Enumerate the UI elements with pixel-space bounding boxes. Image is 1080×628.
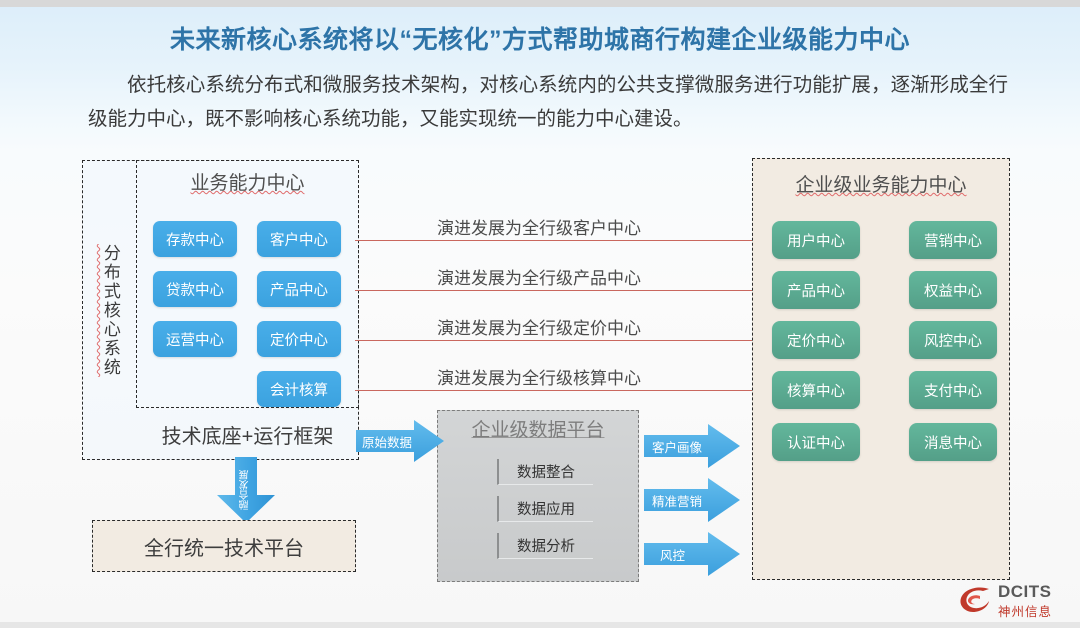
evolution-label-product: 演进发展为全行级产品中心 [437, 264, 641, 289]
output-arrow-customer-profile-label: 客户画像 [652, 437, 702, 456]
integration-down-arrow-label: 融合发展 [241, 470, 251, 510]
page-title: 未来新核心系统将以“无核化”方式帮助城商行构建企业级能力中心 [0, 20, 1080, 56]
ecc-risk-center[interactable]: 风控中心 [909, 321, 997, 359]
enterprise-data-platform-title: 企业级数据平台 [437, 415, 639, 442]
evolution-label-customer: 演进发展为全行级客户中心 [437, 214, 641, 239]
capability-accounting-center[interactable]: 会计核算 [257, 371, 341, 407]
output-arrow-risk-control-label: 风控 [660, 545, 685, 564]
capability-operation-center[interactable]: 运营中心 [153, 321, 237, 357]
capability-product-center[interactable]: 产品中心 [257, 271, 341, 307]
capability-loan-center[interactable]: 贷款中心 [153, 271, 237, 307]
evolution-arrow-line-accounting [355, 390, 757, 391]
evolution-label-accounting: 演进发展为全行级核算中心 [437, 364, 641, 389]
ecc-user-center[interactable]: 用户中心 [772, 221, 860, 259]
data-platform-item-analysis[interactable]: 数据分析 [497, 533, 593, 559]
ecc-accounting-center[interactable]: 核算中心 [772, 371, 860, 409]
integration-down-arrow: 融合发展 [215, 457, 277, 523]
slide-canvas: 未来新核心系统将以“无核化”方式帮助城商行构建企业级能力中心 依托核心系统分布式… [0, 0, 1080, 628]
ecc-pricing-center[interactable]: 定价中心 [772, 321, 860, 359]
raw-data-arrow-label: 原始数据 [362, 432, 412, 451]
company-logo: DCITS 神州信息 [958, 580, 1070, 622]
ecc-message-center[interactable]: 消息中心 [909, 423, 997, 461]
tech-base-label: 技术底座+运行框架 [136, 408, 359, 460]
data-platform-item-application[interactable]: 数据应用 [497, 496, 593, 522]
unified-tech-platform-box: 全行统一技术平台 [92, 520, 356, 572]
capability-customer-center[interactable]: 客户中心 [257, 221, 341, 257]
ecc-marketing-center[interactable]: 营销中心 [909, 221, 997, 259]
ecc-product-center[interactable]: 产品中心 [772, 271, 860, 309]
ecc-payment-center[interactable]: 支付中心 [909, 371, 997, 409]
output-arrow-precision-marketing-label: 精准营销 [652, 491, 702, 510]
evolution-label-pricing: 演进发展为全行级定价中心 [437, 314, 641, 339]
distributed-core-system-label: 分布式核心系统 [83, 160, 137, 460]
ecc-rights-center[interactable]: 权益中心 [909, 271, 997, 309]
output-arrow-precision-marketing: 精准营销 [644, 477, 740, 523]
raw-data-arrow: 原始数据 [356, 419, 444, 463]
logo-brand-en: DCITS [998, 582, 1052, 602]
top-chrome-strip [0, 0, 1080, 7]
logo-brand-cn: 神州信息 [998, 601, 1052, 620]
data-platform-item-integration[interactable]: 数据整合 [497, 459, 593, 485]
business-capability-center-title: 业务能力中心 [136, 168, 359, 195]
bottom-chrome-strip [0, 622, 1080, 628]
page-subtitle: 依托核心系统分布式和微服务技术架构，对核心系统内的公共支撑微服务进行功能扩展，逐… [88, 68, 1008, 136]
output-arrow-customer-profile: 客户画像 [644, 423, 740, 469]
distributed-core-system-text: 分布式核心系统 [101, 244, 119, 377]
capability-pricing-center[interactable]: 定价中心 [257, 321, 341, 357]
integration-down-arrow-label-wrap: 融合发展 [215, 457, 277, 523]
capability-deposit-center[interactable]: 存款中心 [153, 221, 237, 257]
evolution-arrow-line-pricing [355, 340, 757, 341]
evolution-arrow-line-product [355, 290, 757, 291]
ecc-auth-center[interactable]: 认证中心 [772, 423, 860, 461]
output-arrow-risk-control: 风控 [644, 531, 740, 577]
evolution-arrow-line-customer [355, 240, 757, 241]
enterprise-capability-center-title: 企业级业务能力中心 [752, 170, 1010, 197]
dcits-swirl-icon [958, 584, 994, 616]
